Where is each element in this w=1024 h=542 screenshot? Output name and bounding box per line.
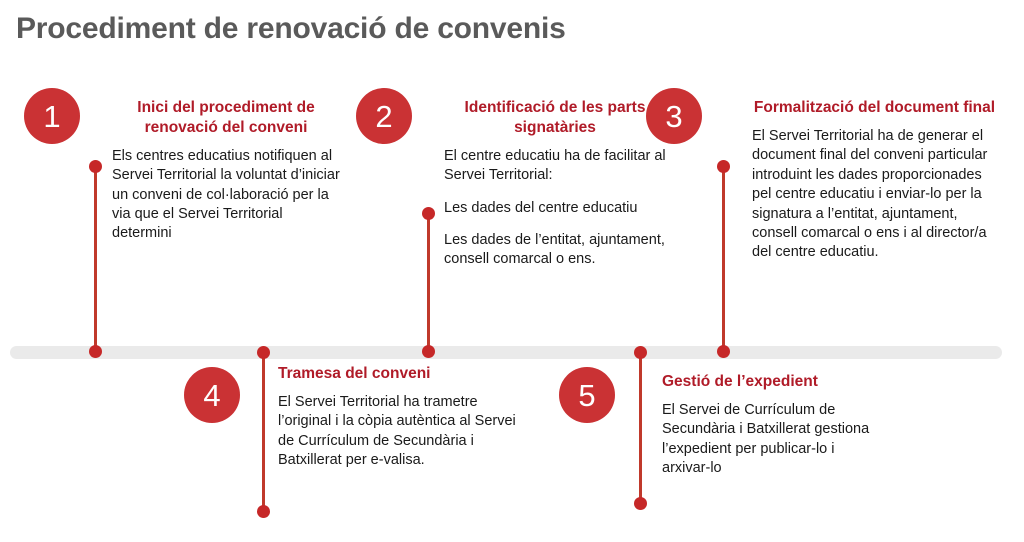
step-block-5: Gestió de l’expedient El Servei de Currí… [662, 372, 880, 479]
step-circle-2[interactable]: 2 [356, 88, 412, 144]
step-number-5: 5 [578, 380, 595, 411]
step-circle-3[interactable]: 3 [646, 88, 702, 144]
step-connector-5 [639, 352, 642, 504]
step-number-1: 1 [43, 101, 60, 132]
step-paragraph: Les dades del centre educatiu [444, 199, 666, 218]
connector-dot-bottom-2 [422, 345, 435, 358]
connector-dot-top-3 [717, 160, 730, 173]
connector-dot-bottom-3 [717, 345, 730, 358]
step-heading-2: Identificació de les parts signatàries [444, 98, 666, 138]
step-circle-1[interactable]: 1 [24, 88, 80, 144]
step-circle-5[interactable]: 5 [559, 367, 615, 423]
step-circle-4[interactable]: 4 [184, 367, 240, 423]
connector-dot-top-4 [257, 346, 270, 359]
step-heading-3: Formalització del document final [752, 98, 997, 118]
connector-dot-bottom-1 [89, 345, 102, 358]
step-paragraph: El Servei Territorial ha de generar el d… [752, 127, 997, 263]
connector-dot-top-2 [422, 207, 435, 220]
step-block-1: Inici del procediment de renovació del c… [112, 98, 340, 244]
step-block-3: Formalització del document final El Serv… [752, 98, 997, 263]
step-connector-1 [94, 166, 97, 352]
step-body-3: El Servei Territorial ha de generar el d… [752, 127, 997, 263]
step-connector-4 [262, 352, 265, 512]
step-heading-4: Tramesa del conveni [278, 364, 516, 384]
step-number-2: 2 [375, 101, 392, 132]
step-body-5: El Servei de Currículum de Secundària i … [662, 401, 880, 479]
connector-dot-top-1 [89, 160, 102, 173]
connector-dot-top-5 [634, 346, 647, 359]
step-paragraph: El centre educatiu ha de facilitar al Se… [444, 147, 666, 186]
step-body-1: Els centres educatius notifiquen al Serv… [112, 147, 340, 244]
step-paragraph: Els centres educatius notifiquen al Serv… [112, 147, 340, 244]
step-number-4: 4 [203, 380, 220, 411]
step-block-2: Identificació de les parts signatàries E… [444, 98, 666, 270]
step-number-3: 3 [665, 101, 682, 132]
page-title: Procediment de renovació de convenis [16, 12, 566, 46]
connector-dot-bottom-4 [257, 505, 270, 518]
step-heading-1: Inici del procediment de renovació del c… [112, 98, 340, 138]
step-connector-2 [427, 213, 430, 352]
step-heading-5: Gestió de l’expedient [662, 372, 880, 392]
step-connector-3 [722, 166, 725, 352]
step-paragraph: Les dades de l’entitat, ajuntament, cons… [444, 231, 666, 270]
step-block-4: Tramesa del conveni El Servei Territoria… [278, 364, 516, 471]
step-body-4: El Servei Territorial ha trametre l’orig… [278, 393, 516, 471]
timeline-bar [10, 346, 1002, 359]
step-paragraph: El Servei Territorial ha trametre l’orig… [278, 393, 516, 471]
step-body-2: El centre educatiu ha de facilitar al Se… [444, 147, 666, 270]
infographic-canvas: Procediment de renovació de convenis 1 I… [0, 0, 1024, 542]
connector-dot-bottom-5 [634, 497, 647, 510]
step-paragraph: El Servei de Currículum de Secundària i … [662, 401, 880, 479]
